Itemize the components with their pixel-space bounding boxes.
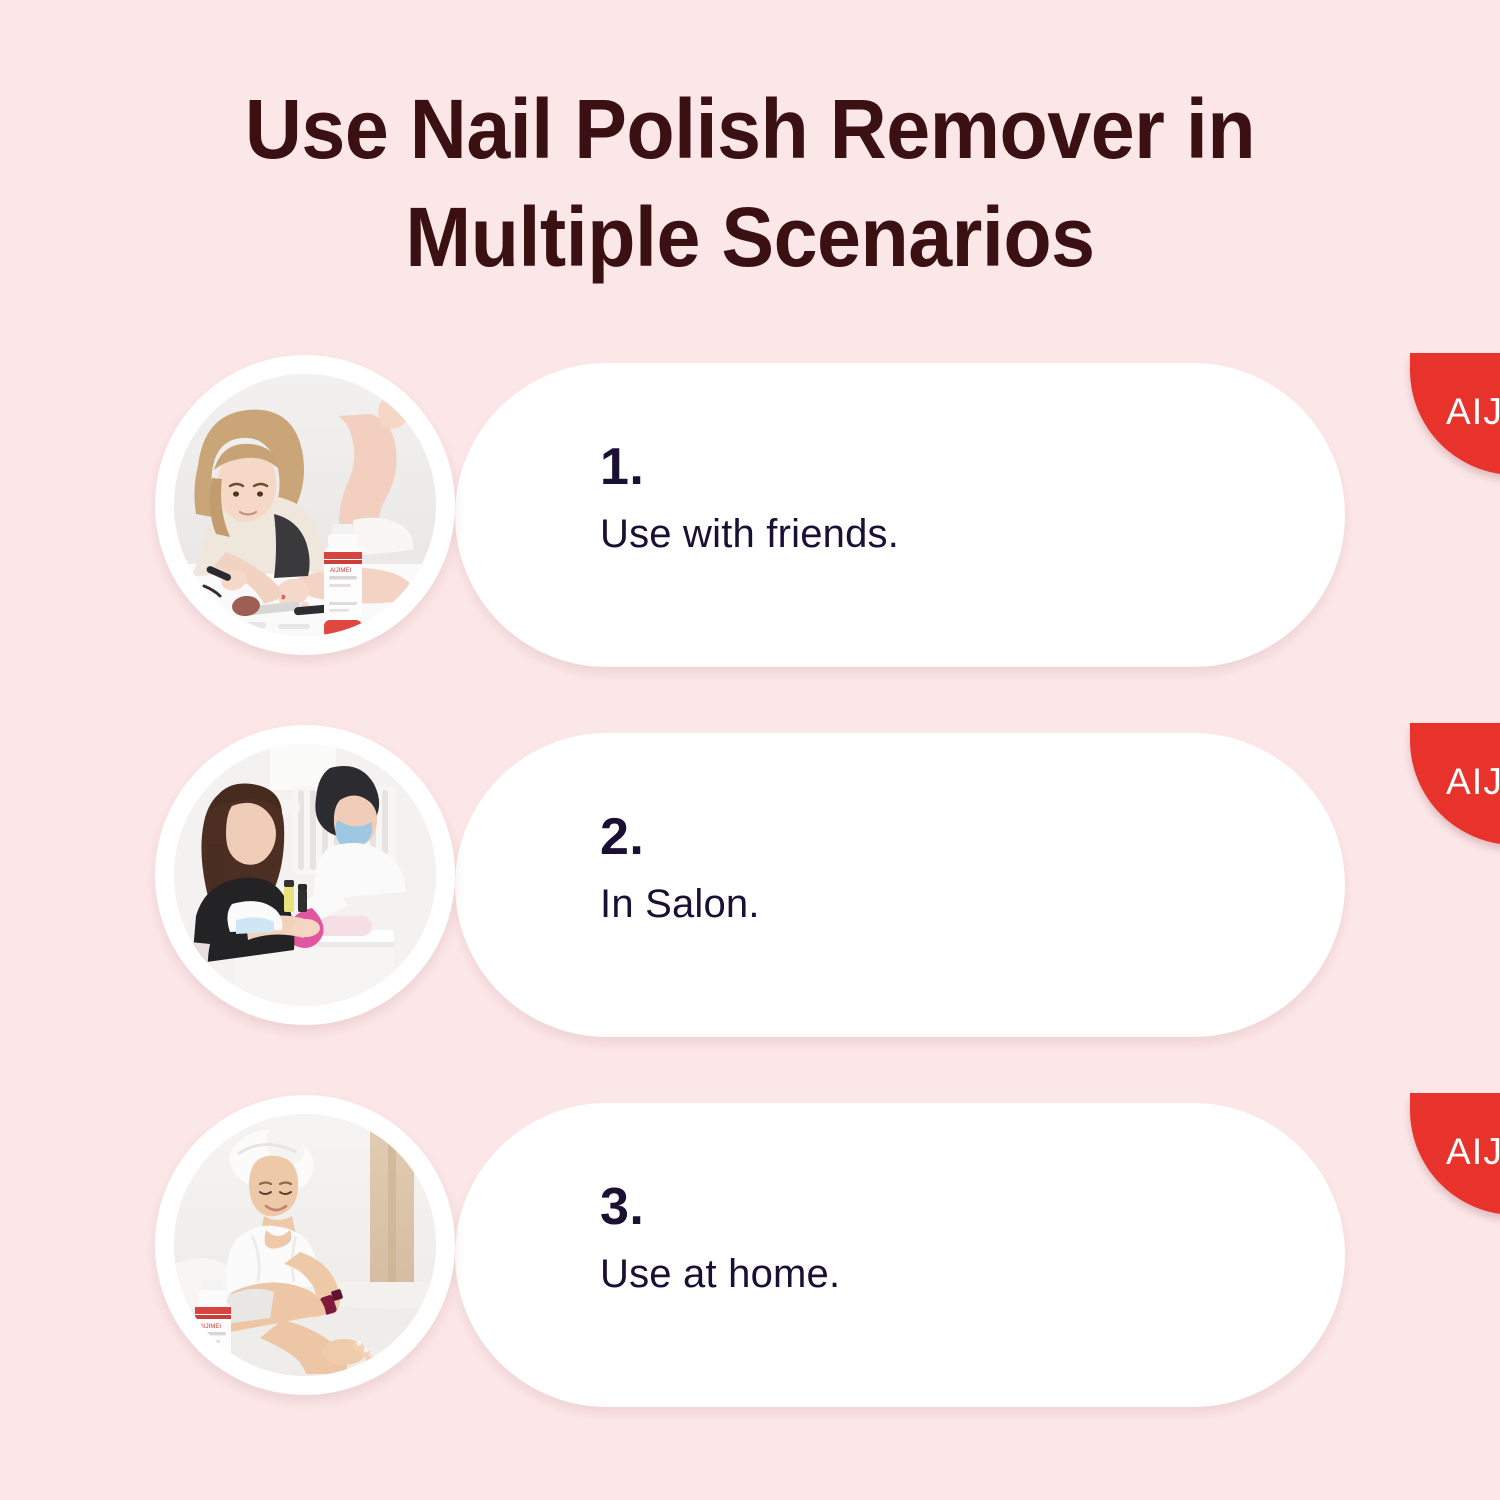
page-title: Use Nail Polish Remover in Multiple Scen…	[45, 76, 1455, 291]
photo-image	[174, 744, 436, 1006]
card-panel: 1. Use with friends. AIJIMEI	[455, 363, 1345, 667]
card-number: 2.	[600, 811, 1200, 863]
card-number: 1.	[600, 441, 1200, 493]
brand-badge: AIJIMEI	[1410, 1093, 1500, 1215]
brand-badge: AIJIMEI	[1410, 353, 1500, 475]
photo-friends-illustration: AIJIMEI	[174, 374, 436, 636]
scenario-photo-3: AIJIMEI	[155, 1095, 455, 1395]
card-caption: Use at home.	[600, 1251, 1200, 1297]
page-title-line-2: Multiple Scenarios	[45, 184, 1455, 292]
badge-label: AIJIMEI	[1410, 763, 1500, 800]
card-number: 3.	[600, 1181, 1200, 1233]
card-text-block: 2. In Salon.	[600, 811, 1200, 927]
photo-image: AIJIMEI	[174, 1114, 436, 1376]
card-caption: Use with friends.	[600, 511, 1200, 557]
photo-image: AIJIMEI	[174, 374, 436, 636]
svg-text:AIJIMEI: AIJIMEI	[330, 568, 351, 574]
scenario-photo-1: AIJIMEI	[155, 355, 455, 655]
badge-label: AIJIMEI	[1410, 393, 1500, 430]
photo-home-illustration: AIJIMEI	[174, 1114, 436, 1376]
card-panel: 3. Use at home. AIJIMEI	[455, 1103, 1345, 1407]
scenario-card-3: 3. Use at home. AIJIMEI	[0, 1095, 1500, 1415]
svg-text:AIJIMEI: AIJIMEI	[200, 1324, 221, 1330]
photo-salon-illustration	[174, 744, 436, 1006]
badge-label: AIJIMEI	[1410, 1133, 1500, 1170]
page-title-line-1: Use Nail Polish Remover in	[45, 76, 1455, 184]
brand-badge: AIJIMEI	[1410, 723, 1500, 845]
card-caption: In Salon.	[600, 881, 1200, 927]
card-panel: 2. In Salon. AIJIMEI	[455, 733, 1345, 1037]
scenario-card-1: 1. Use with friends. AIJIMEI	[0, 355, 1500, 675]
card-text-block: 3. Use at home.	[600, 1181, 1200, 1297]
card-text-block: 1. Use with friends.	[600, 441, 1200, 557]
scenario-card-2: 2. In Salon. AIJIMEI	[0, 725, 1500, 1045]
scenario-photo-2	[155, 725, 455, 1025]
